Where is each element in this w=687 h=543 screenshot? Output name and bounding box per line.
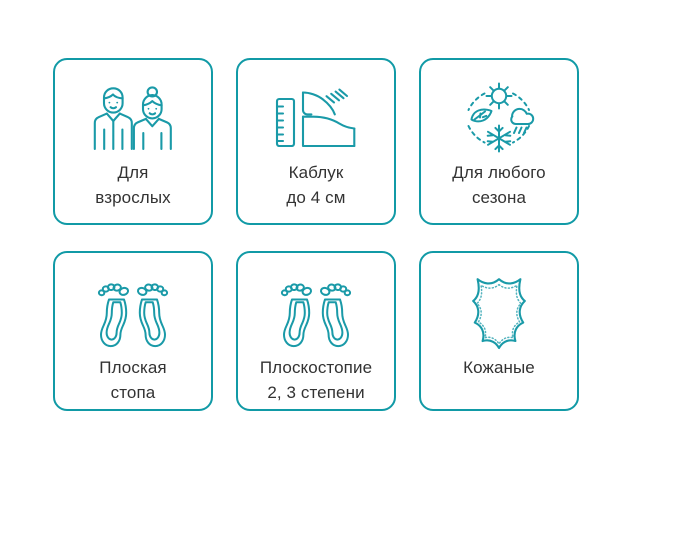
feature-card-label: Плоскостопие 2, 3 степени (256, 355, 376, 405)
feature-card-flat-foot[interactable]: Плоская стопа (53, 251, 213, 411)
feature-card-label: Кожаные (459, 355, 539, 380)
feature-card-any-season[interactable]: Для любого сезона (419, 58, 579, 225)
leather-hide-icon (468, 275, 530, 351)
couple-icon (90, 82, 176, 154)
feature-card-label: Для взрослых (91, 160, 174, 210)
feature-card-for-adults[interactable]: Для взрослых (53, 58, 213, 225)
feature-card-label: Каблук до 4 см (282, 160, 349, 210)
feature-card-heel-height[interactable]: Каблук до 4 см (236, 58, 396, 225)
feature-card-flatfoot-degree[interactable]: Плоскостопие 2, 3 степени (236, 251, 396, 411)
feature-grid: Для взрослых Каблук до 4 см (53, 58, 582, 411)
four-seasons-icon (458, 82, 540, 154)
feature-card-label: Для любого сезона (448, 160, 550, 210)
footprints-icon (94, 275, 172, 351)
feature-card-label: Плоская стопа (95, 355, 170, 405)
ruler-shoe-icon (274, 82, 358, 154)
footprints-icon (277, 275, 355, 351)
feature-card-leather[interactable]: Кожаные (419, 251, 579, 411)
